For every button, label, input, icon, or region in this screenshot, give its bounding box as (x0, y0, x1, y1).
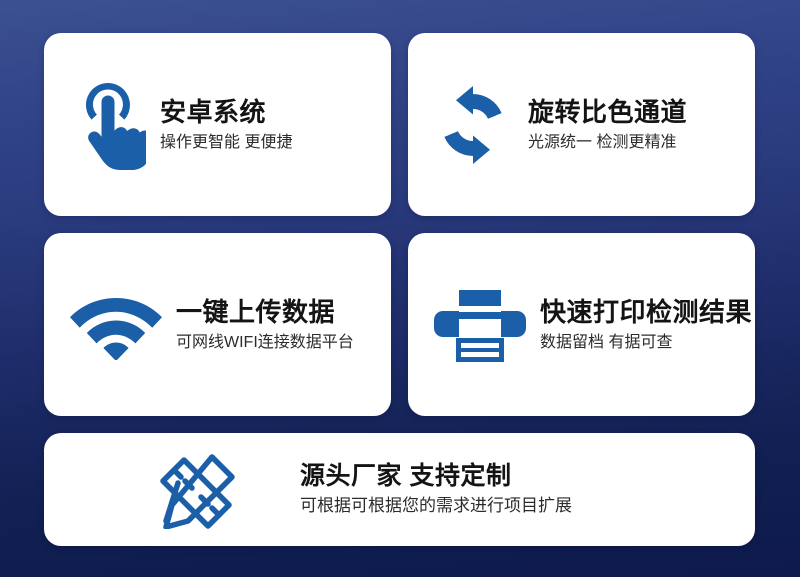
feature-subtitle: 操作更智能 更便捷 (160, 132, 292, 154)
feature-title: 安卓系统 (160, 96, 292, 128)
feature-title: 快速打印检测结果 (540, 296, 752, 328)
pen-ruler-icon (154, 451, 238, 529)
feature-text-block: 快速打印检测结果 数据留档 有据可查 (540, 296, 752, 354)
rotate-refresh-icon (434, 86, 512, 164)
feature-card-custom-manufacturing[interactable]: 源头厂家 支持定制 可根据可根据您的需求进行项目扩展 (44, 433, 755, 546)
feature-text-block: 旋转比色通道 光源统一 检测更精准 (528, 96, 687, 154)
feature-subtitle: 数据留档 有据可查 (540, 332, 752, 354)
feature-row-1: 安卓系统 操作更智能 更便捷 旋转比色通道 光源统一 检测更精准 (44, 33, 764, 216)
feature-row-2: 一键上传数据 可网线WIFI连接数据平台 快速打印检测结果 数 (44, 233, 764, 416)
feature-card-rotating-channel[interactable]: 旋转比色通道 光源统一 检测更精准 (408, 33, 755, 216)
printer-icon (434, 288, 526, 362)
feature-card-android[interactable]: 安卓系统 操作更智能 更便捷 (44, 33, 391, 216)
feature-subtitle: 光源统一 检测更精准 (528, 132, 687, 154)
feature-text-block: 安卓系统 操作更智能 更便捷 (160, 96, 292, 154)
feature-card-upload[interactable]: 一键上传数据 可网线WIFI连接数据平台 (44, 233, 391, 416)
feature-title: 一键上传数据 (176, 296, 354, 328)
feature-board: 安卓系统 操作更智能 更便捷 旋转比色通道 光源统一 检测更精准 (0, 0, 800, 577)
feature-text-block: 一键上传数据 可网线WIFI连接数据平台 (176, 296, 354, 354)
feature-text-block: 源头厂家 支持定制 可根据可根据您的需求进行项目扩展 (300, 461, 572, 518)
feature-subtitle: 可网线WIFI连接数据平台 (176, 332, 354, 354)
touch-hand-icon (70, 79, 146, 171)
feature-card-print[interactable]: 快速打印检测结果 数据留档 有据可查 (408, 233, 755, 416)
wifi-icon (70, 290, 162, 360)
feature-title: 旋转比色通道 (528, 96, 687, 128)
feature-title: 源头厂家 支持定制 (300, 461, 572, 492)
feature-subtitle: 可根据可根据您的需求进行项目扩展 (300, 495, 572, 518)
